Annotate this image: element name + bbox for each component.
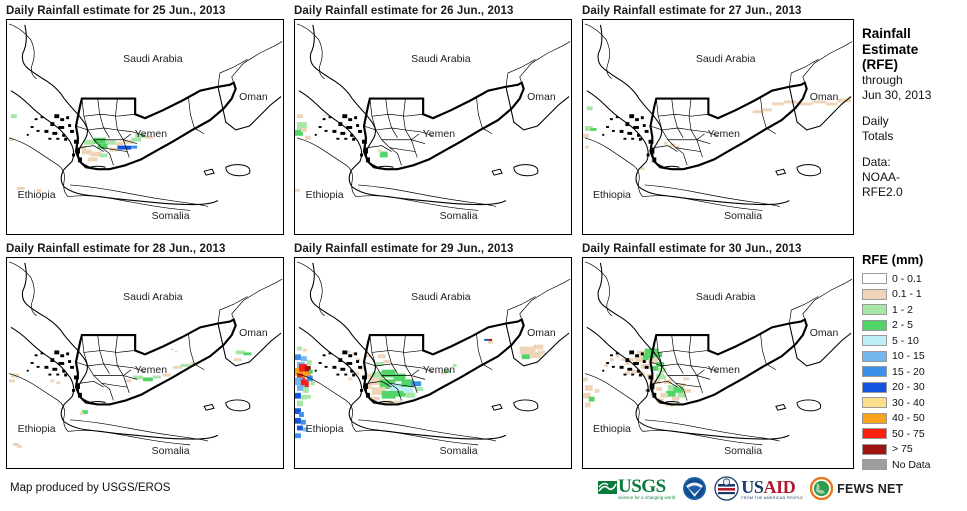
legend-row: 10 - 15 [862, 349, 967, 365]
legend-row: 20 - 30 [862, 380, 967, 396]
map-frame[interactable]: Saudi ArabiaOmanYemenEthiopiaSomalia [294, 257, 572, 469]
country-label-yemen: Yemen [423, 364, 455, 376]
legend-row: 0.1 - 1 [862, 287, 967, 303]
country-label-yemen: Yemen [423, 128, 455, 140]
legend-row: No Data [862, 457, 967, 473]
country-label-somalia: Somalia [152, 210, 190, 222]
sidebar-through-date: Jun 30, 2013 [862, 88, 967, 103]
sidebar-data-line3: RFE2.0 [862, 185, 967, 200]
map-panel-1: Daily Rainfall estimate for 25 Jun., 201… [6, 4, 284, 235]
country-label-somalia: Somalia [440, 210, 478, 222]
country-label-saudi-arabia: Saudi Arabia [696, 291, 756, 303]
sidebar-title-line1: Rainfall [862, 26, 967, 42]
map-panel-3: Daily Rainfall estimate for 27 Jun., 201… [582, 4, 854, 235]
legend-swatch [862, 351, 887, 362]
legend-label: 1 - 2 [892, 304, 913, 316]
sidebar-data-line2: NOAA- [862, 170, 967, 185]
fews-globe-icon [810, 477, 833, 500]
legend-swatch [862, 397, 887, 408]
sidebar-data-line1: Data: [862, 155, 967, 170]
legend-swatch [862, 444, 887, 455]
country-label-somalia: Somalia [724, 210, 762, 222]
map-frame[interactable]: Saudi ArabiaOmanYemenEthiopiaSomalia [6, 19, 284, 235]
map-frame[interactable]: Saudi ArabiaOmanYemenEthiopiaSomalia [582, 19, 854, 235]
map-panel-title: Daily Rainfall estimate for 30 Jun., 201… [582, 242, 854, 257]
country-label-yemen: Yemen [135, 364, 167, 376]
sidebar-totals-line1: Daily [862, 114, 967, 129]
country-label-ethiopia: Ethiopia [18, 423, 56, 435]
usgs-mark-icon [598, 478, 618, 498]
fews-net-logo: FEWS NET [810, 477, 903, 500]
country-label-ethiopia: Ethiopia [593, 189, 631, 201]
usaid-seal-icon [714, 476, 739, 501]
agency-logos: USGS science for a changing world USAID … [598, 476, 903, 501]
legend-label: 40 - 50 [892, 412, 925, 424]
legend-label: 20 - 30 [892, 381, 925, 393]
country-label-somalia: Somalia [724, 445, 762, 457]
legend-swatch [862, 304, 887, 315]
usaid-tagline: FROM THE AMERICAN PEOPLE [741, 496, 803, 500]
country-label-yemen: Yemen [708, 364, 740, 376]
legend-row: 0 - 0.1 [862, 271, 967, 287]
legend-swatch [862, 459, 887, 470]
map-panel-2: Daily Rainfall estimate for 26 Jun., 201… [294, 4, 572, 235]
rfe-legend: RFE (mm) 0 - 0.10.1 - 11 - 22 - 55 - 101… [862, 252, 967, 473]
map-frame[interactable]: Saudi ArabiaOmanYemenEthiopiaSomalia [294, 19, 572, 235]
usaid-logo: USAID FROM THE AMERICAN PEOPLE [714, 476, 803, 501]
country-label-ethiopia: Ethiopia [18, 189, 56, 201]
legend-label: 50 - 75 [892, 428, 925, 440]
legend-row: 5 - 10 [862, 333, 967, 349]
country-label-oman: Oman [239, 327, 268, 339]
country-label-saudi-arabia: Saudi Arabia [411, 53, 471, 65]
legend-row: 50 - 75 [862, 426, 967, 442]
legend-label: 30 - 40 [892, 397, 925, 409]
legend-title: RFE (mm) [862, 252, 967, 267]
legend-row: 40 - 50 [862, 411, 967, 427]
usaid-wordmark: USAID [741, 478, 803, 496]
legend-label: No Data [892, 459, 931, 471]
legend-row: 2 - 5 [862, 318, 967, 334]
legend-row: 15 - 20 [862, 364, 967, 380]
legend-row: 1 - 2 [862, 302, 967, 318]
usgs-tagline: science for a changing world [618, 496, 675, 500]
legend-label: 0 - 0.1 [892, 273, 922, 285]
country-label-oman: Oman [527, 91, 556, 103]
legend-row: > 75 [862, 442, 967, 458]
map-panel-title: Daily Rainfall estimate for 27 Jun., 201… [582, 4, 854, 19]
legend-swatch [862, 289, 887, 300]
map-panel-title: Daily Rainfall estimate for 28 Jun., 201… [6, 242, 284, 257]
country-label-somalia: Somalia [152, 445, 190, 457]
legend-swatch [862, 382, 887, 393]
legend-row: 30 - 40 [862, 395, 967, 411]
legend-label: 15 - 20 [892, 366, 925, 378]
country-label-somalia: Somalia [440, 445, 478, 457]
map-panel-6: Daily Rainfall estimate for 30 Jun., 201… [582, 242, 854, 469]
map-panel-title: Daily Rainfall estimate for 25 Jun., 201… [6, 4, 284, 19]
country-label-oman: Oman [810, 91, 839, 103]
legend-label: 10 - 15 [892, 350, 925, 362]
map-panel-4: Daily Rainfall estimate for 28 Jun., 201… [6, 242, 284, 469]
legend-swatch [862, 413, 887, 424]
usgs-wordmark: USGS [618, 477, 675, 496]
legend-label: 5 - 10 [892, 335, 919, 347]
legend-label: > 75 [892, 443, 913, 455]
country-label-saudi-arabia: Saudi Arabia [696, 53, 756, 65]
map-panel-title: Daily Rainfall estimate for 26 Jun., 201… [294, 4, 572, 19]
map-panel-5: Daily Rainfall estimate for 29 Jun., 201… [294, 242, 572, 469]
legend-swatch [862, 366, 887, 377]
map-frame[interactable]: Saudi ArabiaOmanYemenEthiopiaSomalia [6, 257, 284, 469]
legend-label: 2 - 5 [892, 319, 913, 331]
map-frame[interactable]: Saudi ArabiaOmanYemenEthiopiaSomalia [582, 257, 854, 469]
country-label-saudi-arabia: Saudi Arabia [411, 291, 471, 303]
noaa-logo [682, 476, 707, 501]
country-label-saudi-arabia: Saudi Arabia [123, 291, 183, 303]
country-label-yemen: Yemen [135, 128, 167, 140]
sidebar-title-line3: (RFE) [862, 57, 967, 73]
country-label-oman: Oman [810, 327, 839, 339]
fews-net-wordmark: FEWS NET [837, 482, 903, 496]
legend-swatch [862, 320, 887, 331]
sidebar-info-block: Rainfall Estimate (RFE) through Jun 30, … [862, 26, 967, 200]
sidebar-totals-line2: Totals [862, 129, 967, 144]
sidebar-title-line2: Estimate [862, 42, 967, 58]
legend-swatch [862, 428, 887, 439]
usgs-logo: USGS science for a changing world [598, 477, 675, 500]
map-credit: Map produced by USGS/EROS [10, 482, 170, 494]
country-label-ethiopia: Ethiopia [306, 423, 344, 435]
legend-swatch [862, 335, 887, 346]
map-panel-title: Daily Rainfall estimate for 29 Jun., 201… [294, 242, 572, 257]
country-label-oman: Oman [527, 327, 556, 339]
legend-label: 0.1 - 1 [892, 288, 922, 300]
country-label-ethiopia: Ethiopia [306, 189, 344, 201]
country-label-oman: Oman [239, 91, 268, 103]
sidebar-through-label: through [862, 73, 967, 88]
legend-swatch [862, 273, 887, 284]
country-label-ethiopia: Ethiopia [593, 423, 631, 435]
country-label-yemen: Yemen [708, 128, 740, 140]
country-label-saudi-arabia: Saudi Arabia [123, 53, 183, 65]
noaa-seal-icon [682, 476, 707, 501]
